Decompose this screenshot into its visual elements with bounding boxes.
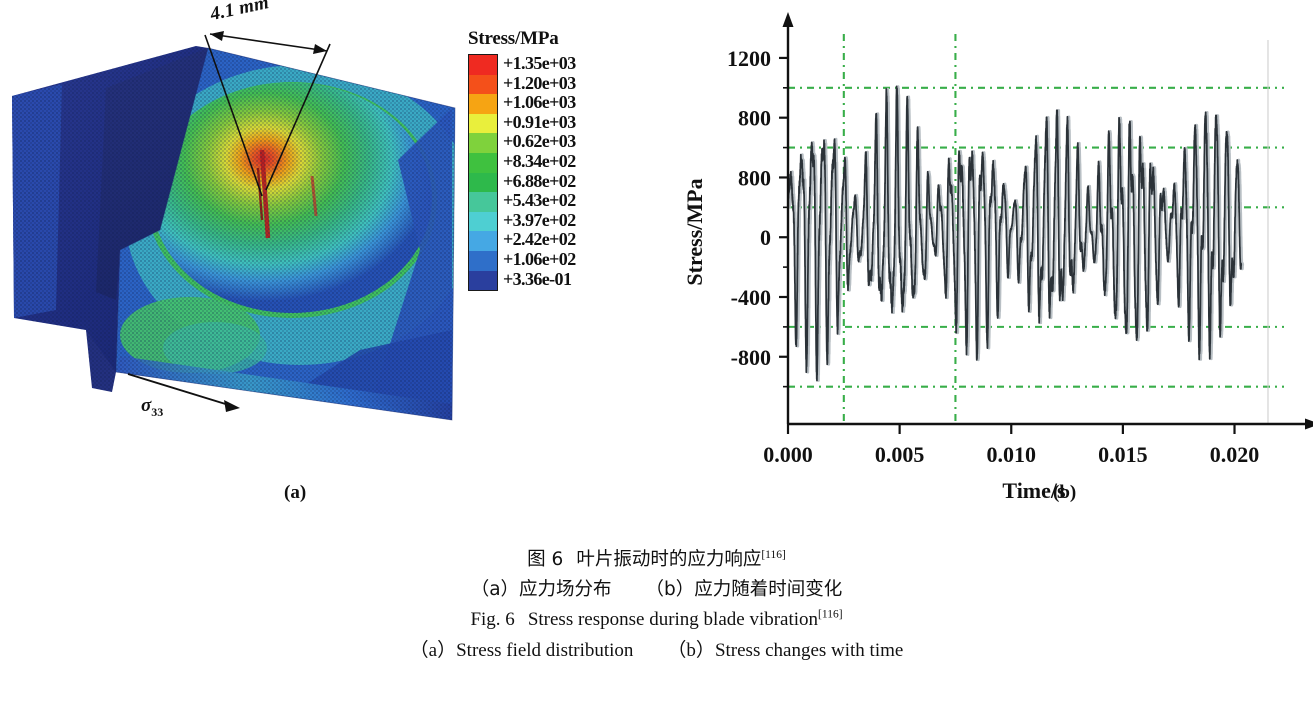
caption-cn-a-tag: （a） — [471, 579, 519, 600]
caption-en-b-text: Stress changes with time — [715, 640, 903, 661]
legend-value: +1.35e+03 — [503, 54, 576, 74]
legend-swatch — [469, 192, 497, 212]
sigma-symbol: σ — [141, 395, 151, 416]
caption-en-a-tag: （a） — [410, 640, 456, 661]
panel-b-stress-time-chart: 12008008000-400-8000.0000.0050.0100.0150… — [640, 0, 1313, 530]
sigma-33-label: σ33 — [141, 395, 163, 420]
legend-value: +0.62e+03 — [503, 132, 576, 152]
x-axis-ticks: 0.0000.0050.0100.0150.020 — [763, 424, 1259, 467]
legend-swatch — [469, 114, 497, 134]
caption-en-b-tag: （b） — [667, 640, 715, 661]
legend-value-list: +1.35e+03+1.20e+03+1.06e+03+0.91e+03+0.6… — [503, 54, 576, 289]
x-axis-arrow — [1305, 419, 1313, 430]
y-axis-title: Stress/MPa — [682, 178, 707, 285]
waveform-trace — [788, 86, 1241, 380]
caption-cn-a-text: 应力场分布 — [519, 579, 612, 600]
y-tick-label: 0 — [760, 225, 771, 250]
legend-value: +3.36e-01 — [503, 270, 576, 290]
legend-swatch — [469, 271, 497, 291]
legend-swatch — [469, 75, 497, 95]
panel-a-sublabel: (a) — [284, 482, 306, 504]
caption-cn-b-tag: （b） — [646, 579, 695, 600]
x-tick-label: 0.020 — [1210, 442, 1260, 467]
y-tick-label: -800 — [731, 345, 771, 370]
sigma-subscript: 33 — [151, 405, 163, 419]
legend-swatch — [469, 251, 497, 271]
stress-colour-legend: Stress/MPa +1.35e+03+1.20e+03+1.06e+03+0… — [462, 28, 632, 291]
caption-cn-b-text: 应力随着时间变化 — [694, 579, 842, 600]
legend-swatch — [469, 212, 497, 232]
caption-en-title: Fig. 6Stress response during blade vibra… — [0, 605, 1313, 636]
legend-value: +1.06e+02 — [503, 250, 576, 270]
legend-value: +3.97e+02 — [503, 211, 576, 231]
caption-en-subtitles: （a）Stress field distribution（b）Stress ch… — [0, 636, 1313, 667]
x-tick-label: 0.005 — [875, 442, 925, 467]
legend-title: Stress/MPa — [468, 28, 632, 50]
caption-cn-subtitles: （a）应力场分布（b）应力随着时间变化 — [0, 575, 1313, 605]
y-tick-label: 800 — [738, 106, 771, 131]
y-tick-label: 800 — [738, 165, 771, 190]
legend-swatch — [469, 133, 497, 153]
legend-body: +1.35e+03+1.20e+03+1.06e+03+0.91e+03+0.6… — [462, 54, 632, 291]
caption-en-reference: [116] — [818, 609, 842, 621]
y-tick-label: 1200 — [727, 46, 771, 71]
panel-a-stress-field: 4.1 mm σ33 Stress/MPa +1.35e+03+1.20e+03… — [0, 0, 640, 530]
legend-colour-bar — [468, 54, 498, 291]
x-tick-label: 0.010 — [987, 442, 1037, 467]
caption-en-title-prefix: Fig. 6 — [470, 609, 514, 630]
legend-value: +1.06e+03 — [503, 93, 576, 113]
y-axis-arrow — [783, 12, 794, 27]
caption-cn-reference: [116] — [761, 549, 785, 561]
legend-value: +5.43e+02 — [503, 191, 576, 211]
legend-swatch — [469, 153, 497, 173]
caption-cn-title-text: 叶片振动时的应力响应 — [576, 549, 761, 570]
caption-en-title-text: Stress response during blade vibration — [528, 609, 818, 630]
legend-value: +6.88e+02 — [503, 172, 576, 192]
figure-caption: 图 6叶片振动时的应力响应[116] （a）应力场分布（b）应力随着时间变化 F… — [0, 545, 1313, 666]
legend-swatch — [469, 94, 497, 114]
caption-cn-title-prefix: 图 6 — [527, 549, 563, 570]
x-tick-label: 0.015 — [1098, 442, 1148, 467]
stress-time-plot: 12008008000-400-8000.0000.0050.0100.0150… — [640, 0, 1313, 530]
legend-swatch — [469, 231, 497, 251]
legend-swatch — [469, 55, 497, 75]
legend-value: +1.20e+03 — [503, 74, 576, 94]
y-axis-ticks: 12008008000-400-800 — [727, 46, 788, 370]
legend-value: +0.91e+03 — [503, 113, 576, 133]
y-tick-label: -400 — [731, 285, 771, 310]
caption-cn-title: 图 6叶片振动时的应力响应[116] — [0, 545, 1313, 575]
panel-b-sublabel: (b) — [1053, 482, 1076, 504]
legend-swatch — [469, 173, 497, 193]
legend-value: +2.42e+02 — [503, 230, 576, 250]
legend-value: +8.34e+02 — [503, 152, 576, 172]
x-tick-label: 0.000 — [763, 442, 813, 467]
caption-en-a-text: Stress field distribution — [456, 640, 633, 661]
